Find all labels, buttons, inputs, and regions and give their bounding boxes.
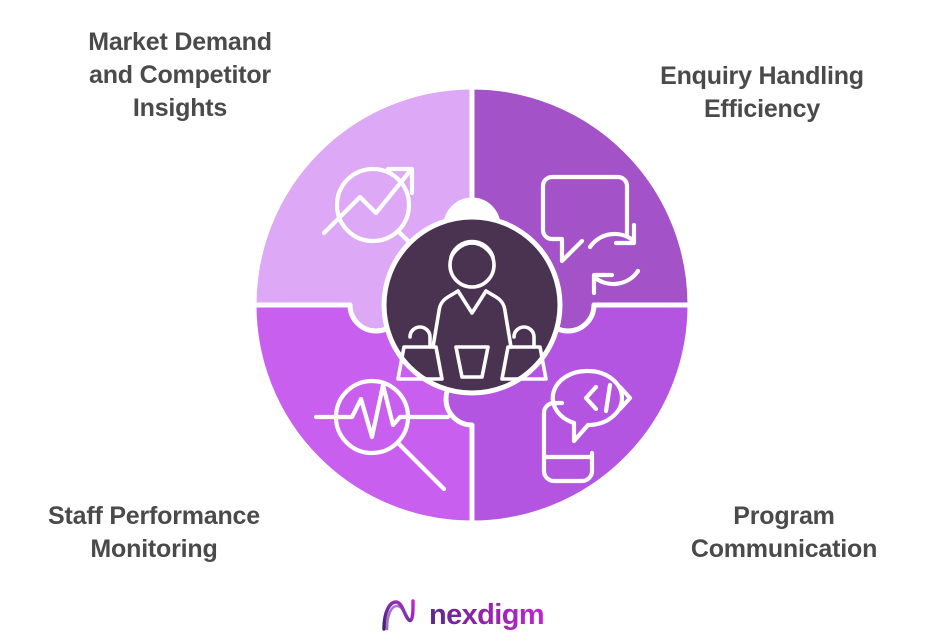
nexdigm-wave-n-logo-icon (380, 597, 420, 633)
brand-logo: nexdigm (380, 596, 544, 634)
diagram-canvas: Market Demand and Competitor Insights En… (0, 0, 936, 642)
brand-name: nexdigm (429, 601, 544, 630)
center-hub[interactable] (384, 217, 560, 393)
puzzle-wheel-graphic (252, 85, 692, 525)
